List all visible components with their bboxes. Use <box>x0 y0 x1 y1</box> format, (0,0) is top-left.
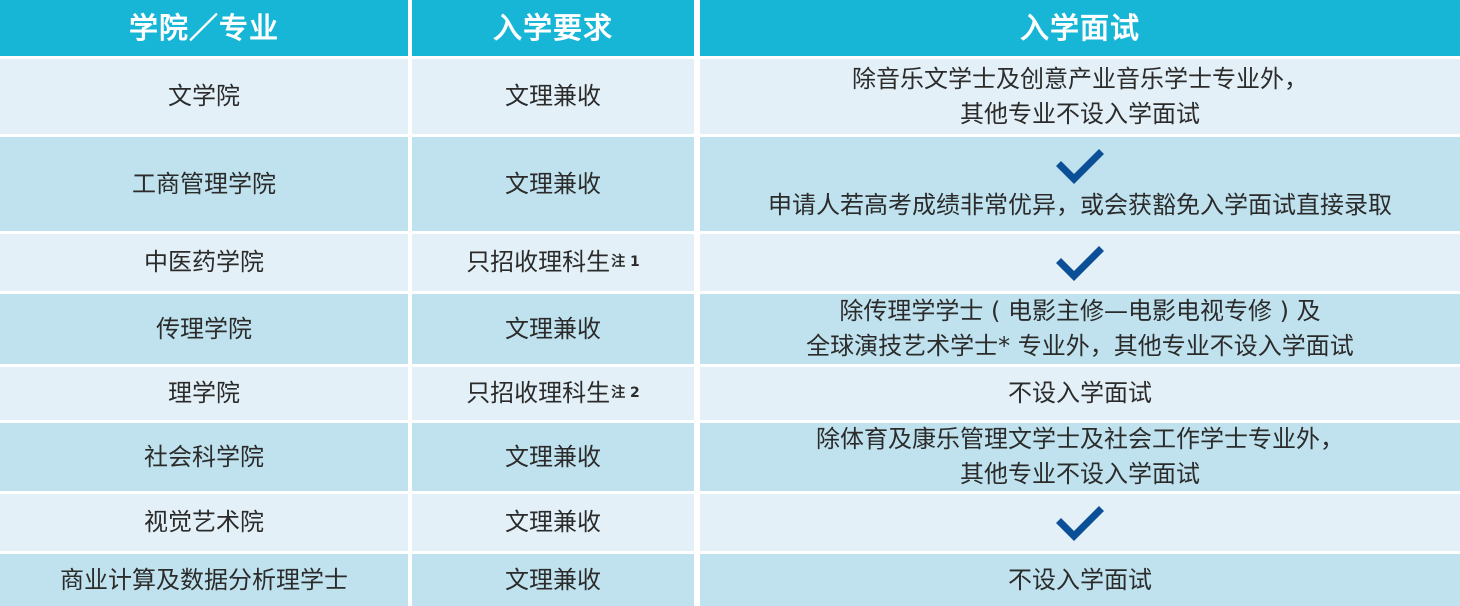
check-mark-icon <box>1052 146 1108 186</box>
admission-requirements-table: 学院／专业 入学要求 入学面试 文学院 文理兼收 除音乐文学士及创意产业音乐学士… <box>0 0 1460 593</box>
requirement-cell: 只招收理科生注 1 <box>412 234 694 291</box>
interview-content: 除传理学学士 ( 电影主修—电影电视专修 ) 及 全球演技艺术学士* 专业外，其… <box>708 294 1452 364</box>
table-row: 工商管理学院 文理兼收 申请人若高考成绩非常优异，或会获豁免入学面试直接录取 <box>0 137 1460 231</box>
column-header-faculty-label: 学院／专业 <box>129 7 279 49</box>
requirement-label: 文理兼收 <box>505 312 601 347</box>
table-row: 中医药学院 只招收理科生注 1 <box>0 234 1460 291</box>
interview-cell: 不设入学面试 <box>700 554 1460 606</box>
requirement-label: 文理兼收 <box>505 505 601 540</box>
interview-line: 不设入学面试 <box>1008 376 1152 411</box>
requirement-cell: 文理兼收 <box>412 137 694 231</box>
interview-cell: 除体育及康乐管理文学士及社会工作学士专业外， 其他专业不设入学面试 <box>700 423 1460 491</box>
interview-line: 其他专业不设入学面试 <box>960 97 1200 132</box>
interview-line: 其他专业不设入学面试 <box>960 457 1200 492</box>
table-row: 视觉艺术院 文理兼收 <box>0 494 1460 551</box>
faculty-cell: 传理学院 <box>0 294 408 364</box>
faculty-label: 传理学院 <box>156 312 252 347</box>
requirement-label: 只招收理科生 <box>466 245 610 280</box>
faculty-label: 商业计算及数据分析理学士 <box>60 563 348 598</box>
interview-cell: 不设入学面试 <box>700 367 1460 420</box>
faculty-cell: 文学院 <box>0 59 408 134</box>
requirement-cell: 文理兼收 <box>412 554 694 606</box>
table-row: 商业计算及数据分析理学士 文理兼收 不设入学面试 <box>0 554 1460 606</box>
table-row: 文学院 文理兼收 除音乐文学士及创意产业音乐学士专业外， 其他专业不设入学面试 <box>0 59 1460 134</box>
table-row: 社会科学院 文理兼收 除体育及康乐管理文学士及社会工作学士专业外， 其他专业不设… <box>0 423 1460 491</box>
faculty-label: 工商管理学院 <box>132 167 276 202</box>
requirement-label: 只招收理科生 <box>466 376 610 411</box>
faculty-cell: 工商管理学院 <box>0 137 408 231</box>
interview-line: 申请人若高考成绩非常优异，或会获豁免入学面试直接录取 <box>768 188 1392 223</box>
requirement-label: 文理兼收 <box>505 167 601 202</box>
requirement-cell: 只招收理科生注 2 <box>412 367 694 420</box>
requirement-cell: 文理兼收 <box>412 423 694 491</box>
column-header-requirement-label: 入学要求 <box>493 7 613 49</box>
interview-line: 除音乐文学士及创意产业音乐学士专业外， <box>852 62 1308 97</box>
interview-line: 全球演技艺术学士* 专业外，其他专业不设入学面试 <box>806 329 1354 364</box>
requirement-label: 文理兼收 <box>505 563 601 598</box>
faculty-label: 视觉艺术院 <box>144 505 264 540</box>
column-header-interview: 入学面试 <box>700 0 1460 56</box>
table-header-row: 学院／专业 入学要求 入学面试 <box>0 0 1460 56</box>
check-mark-icon <box>1052 503 1108 543</box>
interview-line: 除体育及康乐管理文学士及社会工作学士专业外， <box>816 422 1344 457</box>
interview-content: 除体育及康乐管理文学士及社会工作学士专业外， 其他专业不设入学面试 <box>708 422 1452 492</box>
interview-content: 申请人若高考成绩非常优异，或会获豁免入学面试直接录取 <box>708 146 1452 223</box>
faculty-label: 理学院 <box>168 376 240 411</box>
column-header-interview-label: 入学面试 <box>1020 7 1140 49</box>
requirement-label: 文理兼收 <box>505 79 601 114</box>
requirement-cell: 文理兼收 <box>412 59 694 134</box>
faculty-label: 文学院 <box>168 79 240 114</box>
interview-content: 除音乐文学士及创意产业音乐学士专业外， 其他专业不设入学面试 <box>708 62 1452 132</box>
interview-line: 不设入学面试 <box>1008 563 1152 598</box>
column-header-requirement: 入学要求 <box>412 0 694 56</box>
interview-line: 除传理学学士 ( 电影主修—电影电视专修 ) 及 <box>839 294 1320 329</box>
faculty-cell: 视觉艺术院 <box>0 494 408 551</box>
faculty-cell: 商业计算及数据分析理学士 <box>0 554 408 606</box>
faculty-label: 社会科学院 <box>144 440 264 475</box>
faculty-cell: 中医药学院 <box>0 234 408 291</box>
table-row: 理学院 只招收理科生注 2 不设入学面试 <box>0 367 1460 420</box>
interview-content <box>708 243 1452 283</box>
interview-content: 不设入学面试 <box>708 563 1452 598</box>
table-row: 传理学院 文理兼收 除传理学学士 ( 电影主修—电影电视专修 ) 及 全球演技艺… <box>0 294 1460 364</box>
interview-content <box>708 503 1452 543</box>
requirement-label: 文理兼收 <box>505 440 601 475</box>
faculty-cell: 理学院 <box>0 367 408 420</box>
faculty-cell: 社会科学院 <box>0 423 408 491</box>
column-header-faculty: 学院／专业 <box>0 0 408 56</box>
requirement-cell: 文理兼收 <box>412 494 694 551</box>
requirement-footnote-marker: 注 2 <box>611 383 640 403</box>
interview-content: 不设入学面试 <box>708 376 1452 411</box>
interview-cell <box>700 494 1460 551</box>
interview-cell: 除传理学学士 ( 电影主修—电影电视专修 ) 及 全球演技艺术学士* 专业外，其… <box>700 294 1460 364</box>
check-mark-icon <box>1052 243 1108 283</box>
interview-cell: 除音乐文学士及创意产业音乐学士专业外， 其他专业不设入学面试 <box>700 59 1460 134</box>
interview-cell <box>700 234 1460 291</box>
faculty-label: 中医药学院 <box>144 245 264 280</box>
interview-cell: 申请人若高考成绩非常优异，或会获豁免入学面试直接录取 <box>700 137 1460 231</box>
requirement-footnote-marker: 注 1 <box>611 252 640 272</box>
requirement-cell: 文理兼收 <box>412 294 694 364</box>
